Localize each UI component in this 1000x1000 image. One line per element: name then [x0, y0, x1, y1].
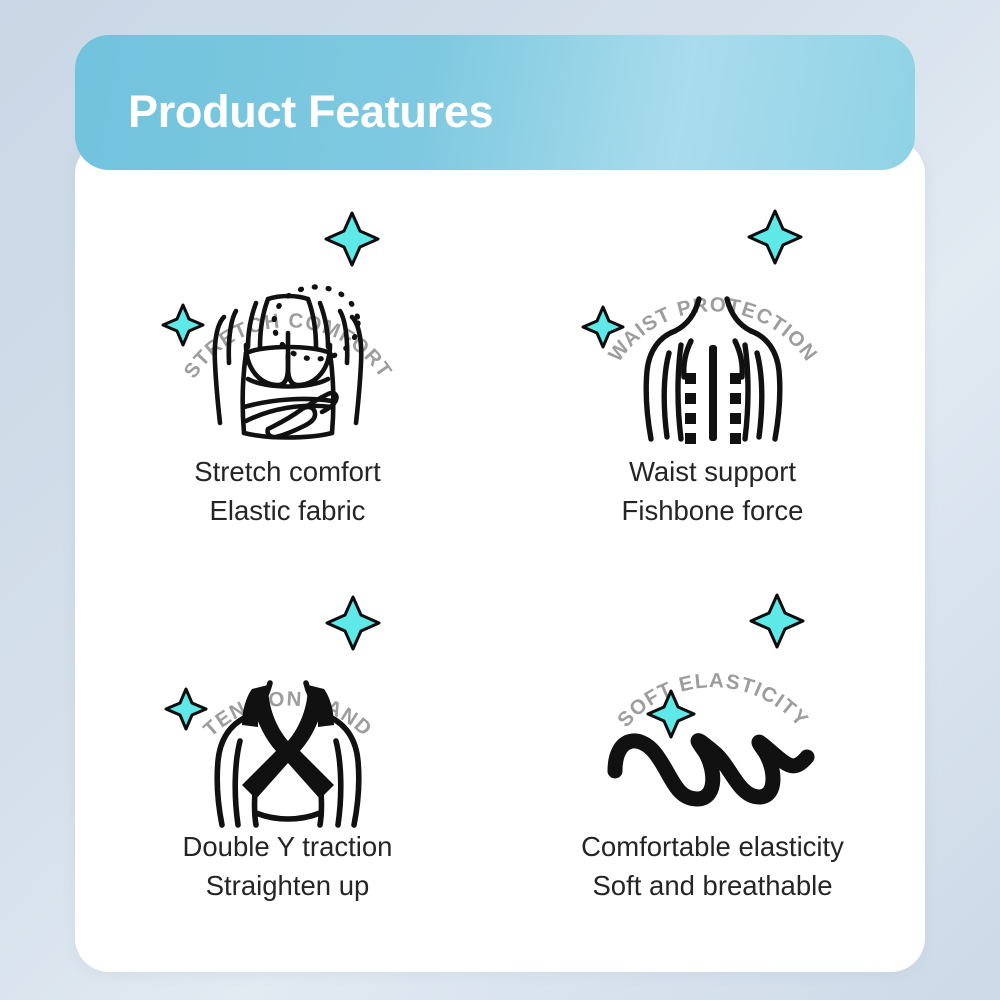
sparkle-icon: [166, 689, 206, 729]
product-features-infographic: Product Features STRETCH COMFORT: [0, 0, 1000, 1000]
feature-item-waist-protection: WAIST PROTECTION: [500, 195, 925, 580]
feature-item-stretch-comfort: STRETCH COMFORT: [75, 195, 500, 580]
feature-item-soft-elasticity: SOFT ELASTICITY Comfortable elasticity: [500, 580, 925, 965]
caption-line-2: Elastic fabric: [194, 491, 380, 530]
icon-area: WAIST PROTECTION: [563, 195, 863, 450]
torso-back-spine-icon: WAIST PROTECTION: [563, 195, 863, 450]
feature-caption: Comfortable elasticity Soft and breathab…: [581, 827, 844, 905]
spring-coil-icon: SOFT ELASTICITY: [563, 580, 863, 835]
caption-line-2: Straighten up: [183, 866, 393, 905]
caption-line-1: Stretch comfort: [194, 456, 380, 487]
spine-bar: [709, 345, 717, 441]
feature-caption: Stretch comfort Elastic fabric: [194, 452, 380, 530]
arc-label: SOFT ELASTICITY: [612, 669, 812, 732]
features-grid: STRETCH COMFORT: [75, 195, 925, 965]
icon-area: TENSION BAND: [138, 580, 438, 825]
feature-caption: Double Y traction Straighten up: [183, 827, 393, 905]
sparkle-icon: [327, 597, 379, 649]
sparkle-icon: [749, 211, 801, 263]
sparkle-icon: [163, 305, 203, 345]
feature-caption: Waist support Fishbone force: [622, 452, 804, 530]
header-banner: Product Features: [75, 35, 915, 170]
caption-line-1: Waist support: [629, 456, 796, 487]
caption-line-1: Comfortable elasticity: [581, 831, 844, 862]
caption-line-1: Double Y traction: [183, 831, 393, 862]
caption-line-2: Soft and breathable: [581, 866, 844, 905]
icon-area: SOFT ELASTICITY: [563, 580, 863, 825]
page-title: Product Features: [75, 86, 493, 138]
icon-area: STRETCH COMFORT: [138, 195, 438, 450]
sparkle-icon: [751, 595, 803, 647]
feature-item-tension-band: TENSION BAND: [75, 580, 500, 965]
sparkle-icon: [326, 213, 378, 265]
torso-front-bra-icon: STRETCH COMFORT: [138, 195, 438, 450]
spring-path: [615, 741, 807, 799]
back-cross-strap-icon: TENSION BAND: [138, 580, 438, 835]
caption-line-2: Fishbone force: [622, 491, 804, 530]
